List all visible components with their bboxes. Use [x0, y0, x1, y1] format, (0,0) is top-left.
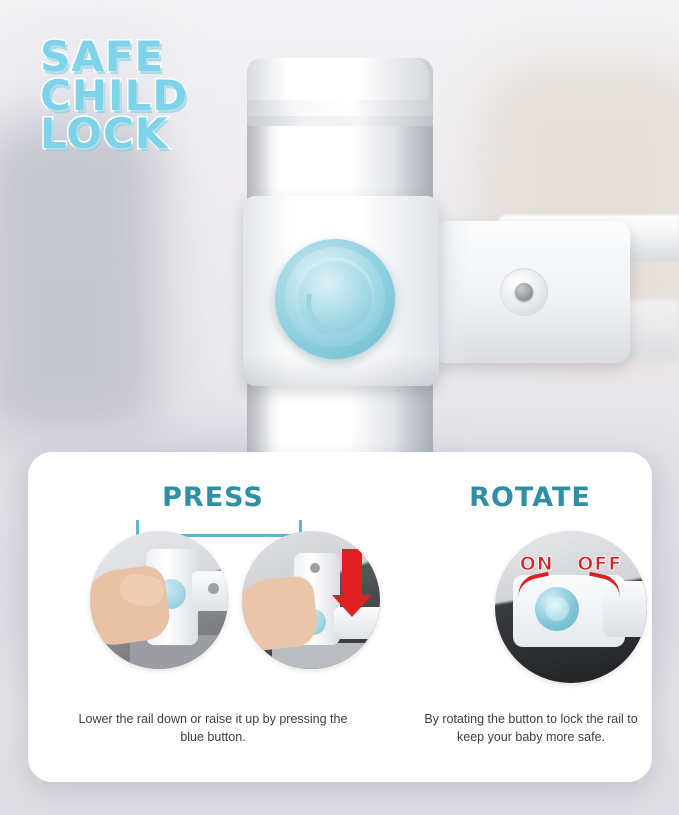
photo3-blue-button-inner	[545, 597, 569, 621]
photo2-screw-icon	[310, 563, 320, 573]
metal-screw-icon	[515, 283, 533, 301]
press-caption: Lower the rail down or raise it up by pr…	[68, 710, 358, 746]
hero-product-photo	[0, 0, 679, 470]
photo1-screw-icon	[208, 583, 219, 594]
gate-post-ring	[247, 100, 433, 116]
press-heading: PRESS	[28, 482, 398, 513]
label-off: OFF	[577, 553, 622, 575]
photo2-hand	[242, 575, 319, 653]
photo-rail-lowering	[242, 531, 380, 669]
press-column: PRESS	[28, 452, 398, 513]
product-infographic: SAFE CHILD LOCK PRESS	[0, 0, 679, 815]
press-photos	[90, 531, 380, 669]
rotate-heading: ROTATE	[408, 482, 652, 513]
rotate-caption: By rotating the button to lock the rail …	[420, 710, 642, 746]
label-on: ON	[520, 553, 554, 575]
photo-rotate-knob: ON OFF	[495, 531, 647, 683]
rotate-column: ROTATE	[408, 452, 652, 513]
on-off-labels: ON OFF	[495, 553, 647, 575]
instruction-card: PRESS	[28, 452, 652, 782]
gate-post-seam	[247, 116, 433, 126]
rotate-photos: ON OFF	[495, 531, 647, 683]
photo-hand-pressing-button	[90, 531, 228, 669]
down-arrow-icon	[342, 549, 362, 595]
gate-post-cap	[251, 58, 429, 100]
